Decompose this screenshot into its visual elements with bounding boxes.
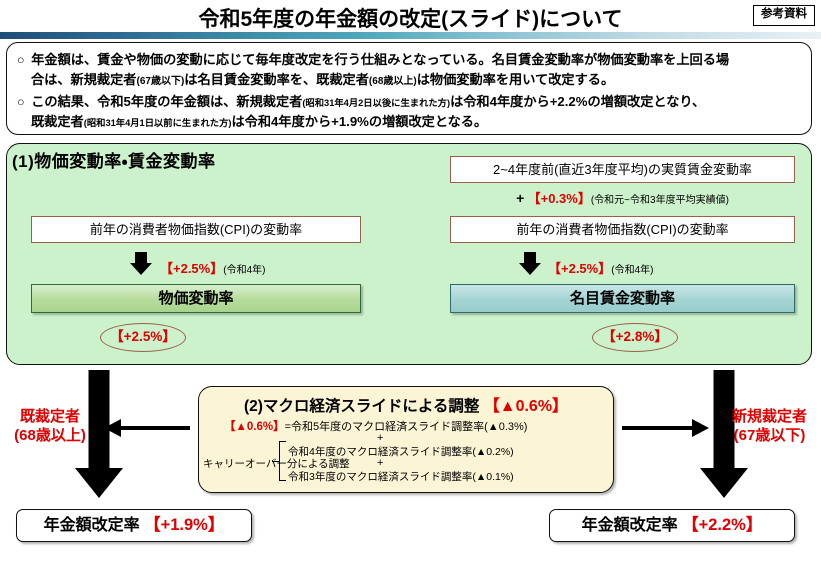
- summary-text: 年金額は、賃金や物価の変動に応じて毎年度改定を行う仕組みとなっている。名目賃金変…: [31, 52, 729, 67]
- existing-recipient-line-2: (68歳以上): [0, 427, 100, 446]
- page-title: 令和5年度の年金額の改定(スライド)について: [0, 3, 821, 33]
- final-result-label-left: 年金額改定率: [44, 517, 140, 534]
- new-recipient-label: 新規裁定者 (67歳以下): [718, 408, 821, 446]
- summary-text: は令和4年度から+2.2%の増額改定となり、: [450, 94, 705, 109]
- price-change-note-left: (令和4年): [223, 265, 265, 276]
- down-arrow-icon-left: [130, 263, 152, 275]
- macro-slide-row-3: 令和3年度のマクロ経済スライド調整率(▲0.1%): [288, 469, 514, 484]
- summary-text: 既裁定者: [31, 114, 84, 129]
- plus-sign-icon: +: [516, 190, 524, 206]
- summary-box: ○ 年金額は、賃金や物価の変動に応じて毎年度改定を行う仕組みとなっている。名目賃…: [6, 42, 812, 135]
- left-arrow-shaft: [120, 426, 190, 430]
- summary-birth-note-new: (昭和31年4月2日以後に生まれた方): [302, 98, 450, 108]
- macro-slide-formula-value: 【▲0.6%】: [224, 421, 285, 433]
- real-wage-value: 【+0.3%】: [528, 191, 591, 206]
- reference-badge: 参考資料: [753, 5, 815, 26]
- right-arrow-icon: [692, 419, 709, 437]
- real-wage-plus-row: + 【+0.3%】(令和元~令和3年度平均実績値): [450, 188, 795, 207]
- summary-text: 合は、新規裁定者: [31, 72, 137, 87]
- summary-bullet-2-line-2: 既裁定者(昭和31年4月1日以前に生まれた方)は令和4年度から+1.9%の増額改…: [31, 115, 821, 128]
- macro-slide-plus-1: +: [377, 432, 383, 444]
- price-change-note-right: (令和4年): [611, 265, 653, 276]
- final-result-value-right: 【+2.2%】: [682, 516, 762, 534]
- summary-birth-note-existing: (昭和31年4月1日以前に生まれた方): [84, 118, 232, 128]
- price-change-annotation-left: 【+2.5%】(令和4年): [160, 258, 265, 277]
- macro-slide-row-1: 令和5年度のマクロ経済スライド調整率(▲0.3%): [291, 421, 527, 433]
- real-wage-note: (令和元~令和3年度平均実績値): [591, 195, 729, 206]
- left-arrow-icon: [104, 419, 121, 437]
- existing-recipient-label: 既裁定者 (68歳以上): [0, 408, 100, 446]
- summary-text: は物価変動率を用いて改定する。: [417, 72, 614, 87]
- arrow-head: [700, 468, 748, 498]
- right-arrow-shaft: [622, 426, 692, 430]
- cpi-source-box-right: 前年の消費者物価指数(CPI)の変動率: [450, 216, 795, 243]
- summary-bullet-2-line-1: ○ この結果、令和5年度の年金額は、新規裁定者(昭和31年4月2日以後に生まれた…: [17, 95, 807, 109]
- price-change-rate-bar: 物価変動率: [31, 284, 361, 313]
- summary-bullet-1-line-1: ○ 年金額は、賃金や物価の変動に応じて毎年度改定を行う仕組みとなっている。名目賃…: [17, 53, 807, 67]
- bullet-marker: ○: [17, 53, 25, 67]
- nominal-wage-rate-oval: 【+2.8%】: [592, 323, 678, 352]
- macro-slide-formula-head: 【▲0.6%】=令和5年度のマクロ経済スライド調整率(▲0.3%): [224, 418, 527, 434]
- macro-slide-plus-2: +: [377, 457, 383, 469]
- new-recipient-line-1: 新規裁定者: [718, 408, 821, 427]
- carryover-label: キャリーオーバー分による調整: [203, 456, 350, 471]
- real-wage-change-box: 2~4年度前(直近3年度平均)の実質賃金変動率: [450, 156, 795, 183]
- price-change-value-left: 【+2.5%】: [160, 261, 223, 276]
- price-change-rate-oval: 【+2.5%】: [100, 323, 186, 352]
- arrow-head: [75, 468, 123, 498]
- summary-text: この結果、令和5年度の年金額は、新規裁定者: [31, 94, 302, 109]
- final-result-value-left: 【+1.9%】: [144, 516, 224, 534]
- price-change-value-right: 【+2.5%】: [548, 261, 611, 276]
- nominal-wage-rate-bar: 名目賃金変動率: [450, 284, 795, 313]
- bullet-marker: ○: [17, 95, 25, 109]
- final-result-label-right: 年金額改定率: [582, 517, 678, 534]
- summary-age-note-existing: (68歳以上): [369, 76, 417, 87]
- final-result-box-existing: 年金額改定率 【+1.9%】: [16, 509, 252, 542]
- price-change-annotation-right: 【+2.5%】(令和4年): [548, 258, 653, 277]
- section2-title: (2)マクロ経済スライドによる調整 【▲0.6%】: [206, 392, 606, 416]
- section1-title: (1)物価変動率・賃金変動率: [12, 147, 216, 172]
- macro-slide-total-value: 【▲0.6%】: [484, 398, 568, 415]
- summary-text: は名目賃金変動率を、既裁定者: [184, 72, 369, 87]
- existing-recipient-line-1: 既裁定者: [0, 408, 100, 427]
- section2-title-text: (2)マクロ経済スライドによる調整: [244, 398, 479, 415]
- cpi-source-box-left: 前年の消費者物価指数(CPI)の変動率: [31, 216, 361, 243]
- summary-age-note-new: (67歳以下): [137, 76, 185, 87]
- down-arrow-icon-right: [519, 263, 541, 275]
- title-gradient-divider: [0, 32, 821, 39]
- new-recipient-line-2: (67歳以下): [718, 427, 821, 446]
- summary-text: は令和4年度から+1.9%の増額改定となる。: [231, 114, 487, 129]
- header-bar: 令和5年度の年金額の改定(スライド)について 参考資料: [0, 0, 821, 33]
- summary-bullet-1-line-2: 合は、新規裁定者(67歳以下)は名目賃金変動率を、既裁定者(68歳以上)は物価変…: [31, 73, 821, 87]
- final-result-box-new: 年金額改定率 【+2.2%】: [549, 509, 795, 542]
